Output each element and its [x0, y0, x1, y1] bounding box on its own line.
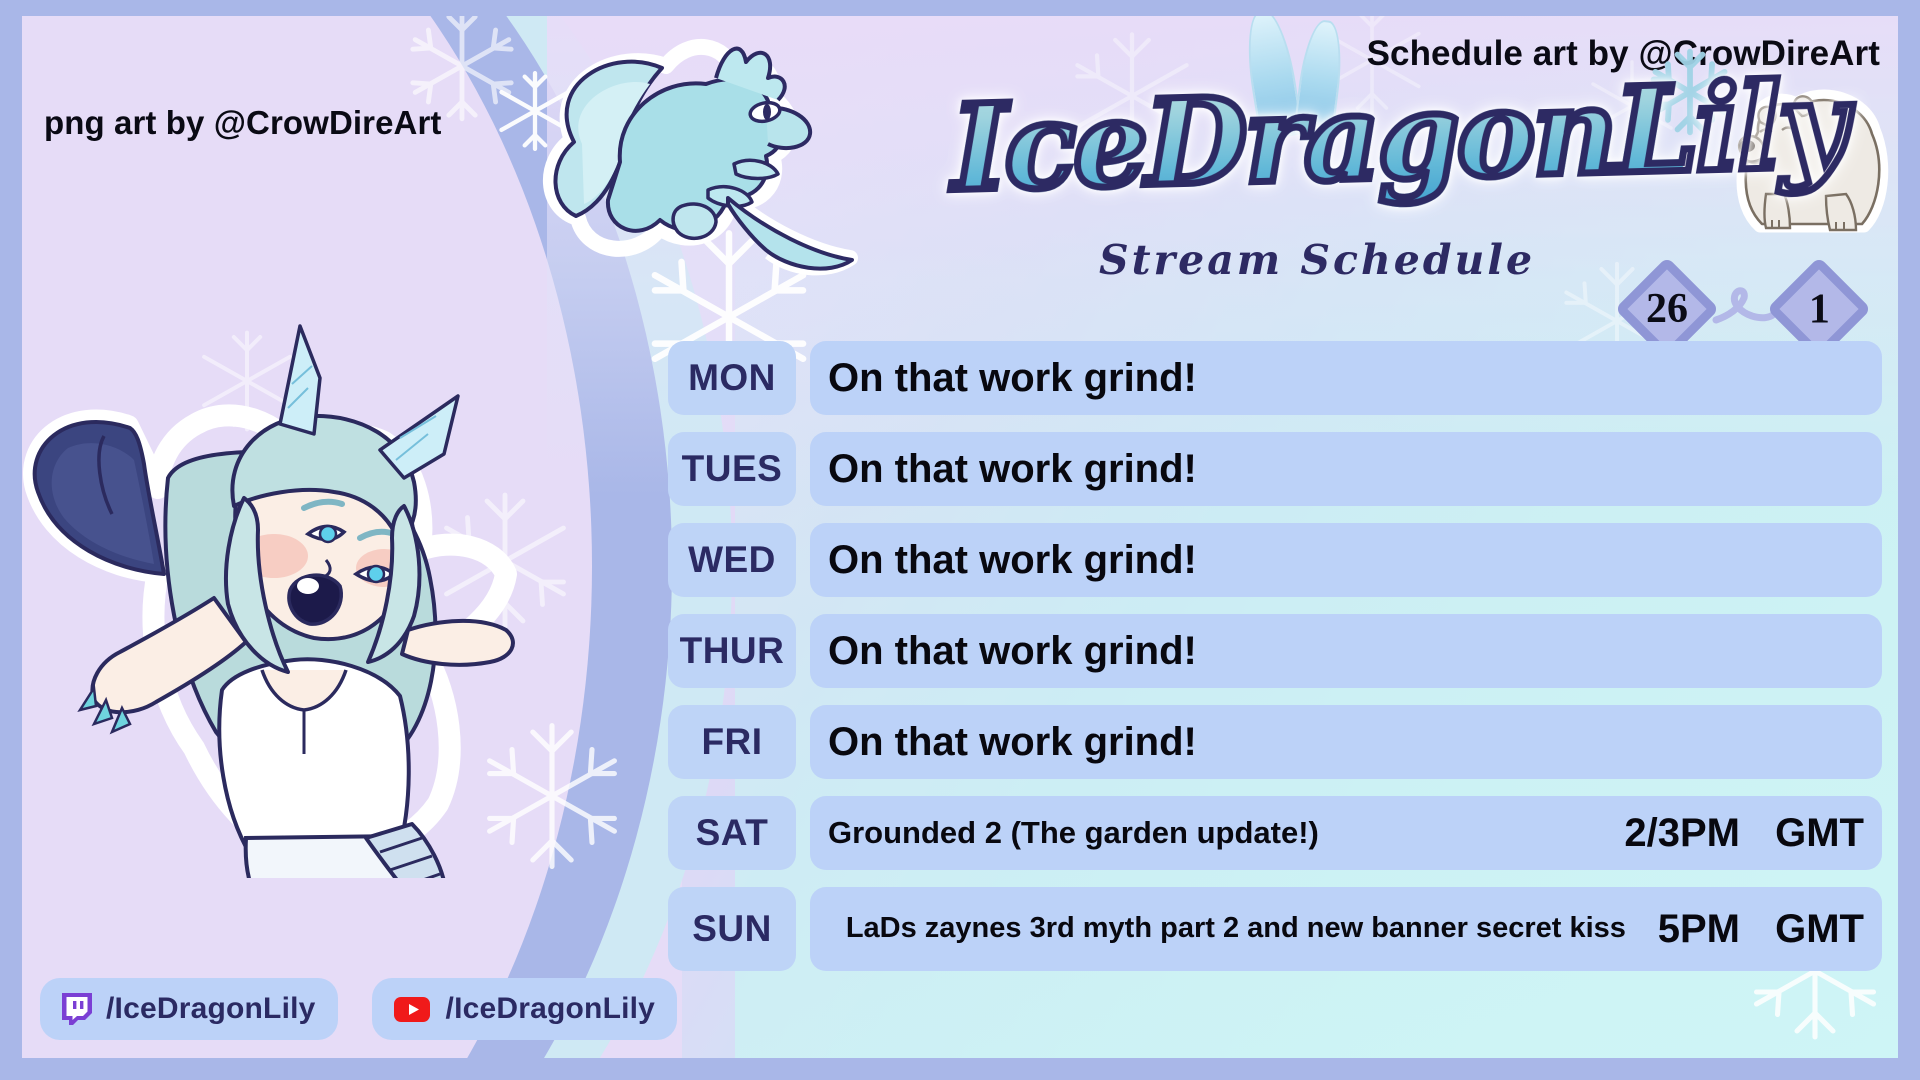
- schedule-slot[interactable]: On that work grind!: [810, 705, 1882, 779]
- schedule-graphic: png art by @CrowDireArt Schedule art by …: [0, 0, 1920, 1080]
- day-label: THUR: [668, 614, 796, 688]
- table-row[interactable]: THUR On that work grind!: [668, 614, 1882, 688]
- day-label: SUN: [668, 887, 796, 971]
- day-label: WED: [668, 523, 796, 597]
- table-row[interactable]: SUN LaDs zaynes 3rd myth part 2 and new …: [668, 887, 1882, 971]
- schedule-slot[interactable]: On that work grind!: [810, 614, 1882, 688]
- character-artwork: [22, 238, 538, 878]
- day-label: MON: [668, 341, 796, 415]
- slot-title: On that work grind!: [828, 722, 1836, 763]
- table-row[interactable]: TUES On that work grind!: [668, 432, 1882, 506]
- ribbon-icon: [1710, 286, 1776, 332]
- slot-title: LaDs zaynes 3rd myth part 2 and new bann…: [828, 914, 1644, 944]
- social-links: /IceDragonLily /IceDragonLily: [40, 978, 677, 1040]
- table-row[interactable]: FRI On that work grind!: [668, 705, 1882, 779]
- logo-text: IceDragonLily: [950, 54, 1684, 223]
- slot-title: On that work grind!: [828, 540, 1836, 581]
- table-row[interactable]: WED On that work grind!: [668, 523, 1882, 597]
- youtube-icon: [388, 989, 436, 1029]
- day-label: FRI: [668, 705, 796, 779]
- date-range: 26 1: [1630, 272, 1856, 346]
- table-row[interactable]: MON On that work grind!: [668, 341, 1882, 415]
- day-label: TUES: [668, 432, 796, 506]
- slot-time: 2/3PM: [1624, 811, 1740, 856]
- schedule-slot[interactable]: Grounded 2 (The garden update!) 2/3PM GM…: [810, 796, 1882, 870]
- social-link-twitch[interactable]: /IceDragonLily: [40, 978, 338, 1040]
- channel-logo: IceDragonLily: [952, 64, 1682, 244]
- social-link-youtube[interactable]: /IceDragonLily: [372, 978, 678, 1040]
- schedule-slot[interactable]: On that work grind!: [810, 341, 1882, 415]
- slot-title: Grounded 2 (The garden update!): [828, 817, 1610, 849]
- schedule-slot[interactable]: On that work grind!: [810, 432, 1882, 506]
- subtitle: Stream Schedule: [952, 236, 1682, 284]
- schedule-slot[interactable]: On that work grind!: [810, 523, 1882, 597]
- slot-timezone: GMT: [1754, 811, 1864, 856]
- slot-time: 5PM: [1658, 907, 1740, 952]
- table-row[interactable]: SAT Grounded 2 (The garden update!) 2/3P…: [668, 796, 1882, 870]
- png-art-credit: png art by @CrowDireArt: [44, 104, 442, 142]
- social-handle: /IceDragonLily: [106, 992, 316, 1026]
- social-handle: /IceDragonLily: [446, 992, 656, 1026]
- slot-title: On that work grind!: [828, 631, 1836, 672]
- date-end-value: 1: [1809, 285, 1830, 333]
- slot-timezone: GMT: [1754, 907, 1864, 952]
- date-start-value: 26: [1646, 285, 1688, 333]
- twitch-icon: [56, 989, 96, 1029]
- day-label: SAT: [668, 796, 796, 870]
- slot-title: On that work grind!: [828, 358, 1836, 399]
- schedule-table: MON On that work grind! TUES On that wor…: [668, 341, 1882, 988]
- slot-title: On that work grind!: [828, 449, 1836, 490]
- schedule-slot[interactable]: LaDs zaynes 3rd myth part 2 and new bann…: [810, 887, 1882, 971]
- dragon-mascot-illustration: [520, 22, 880, 322]
- artboard: png art by @CrowDireArt Schedule art by …: [22, 16, 1898, 1058]
